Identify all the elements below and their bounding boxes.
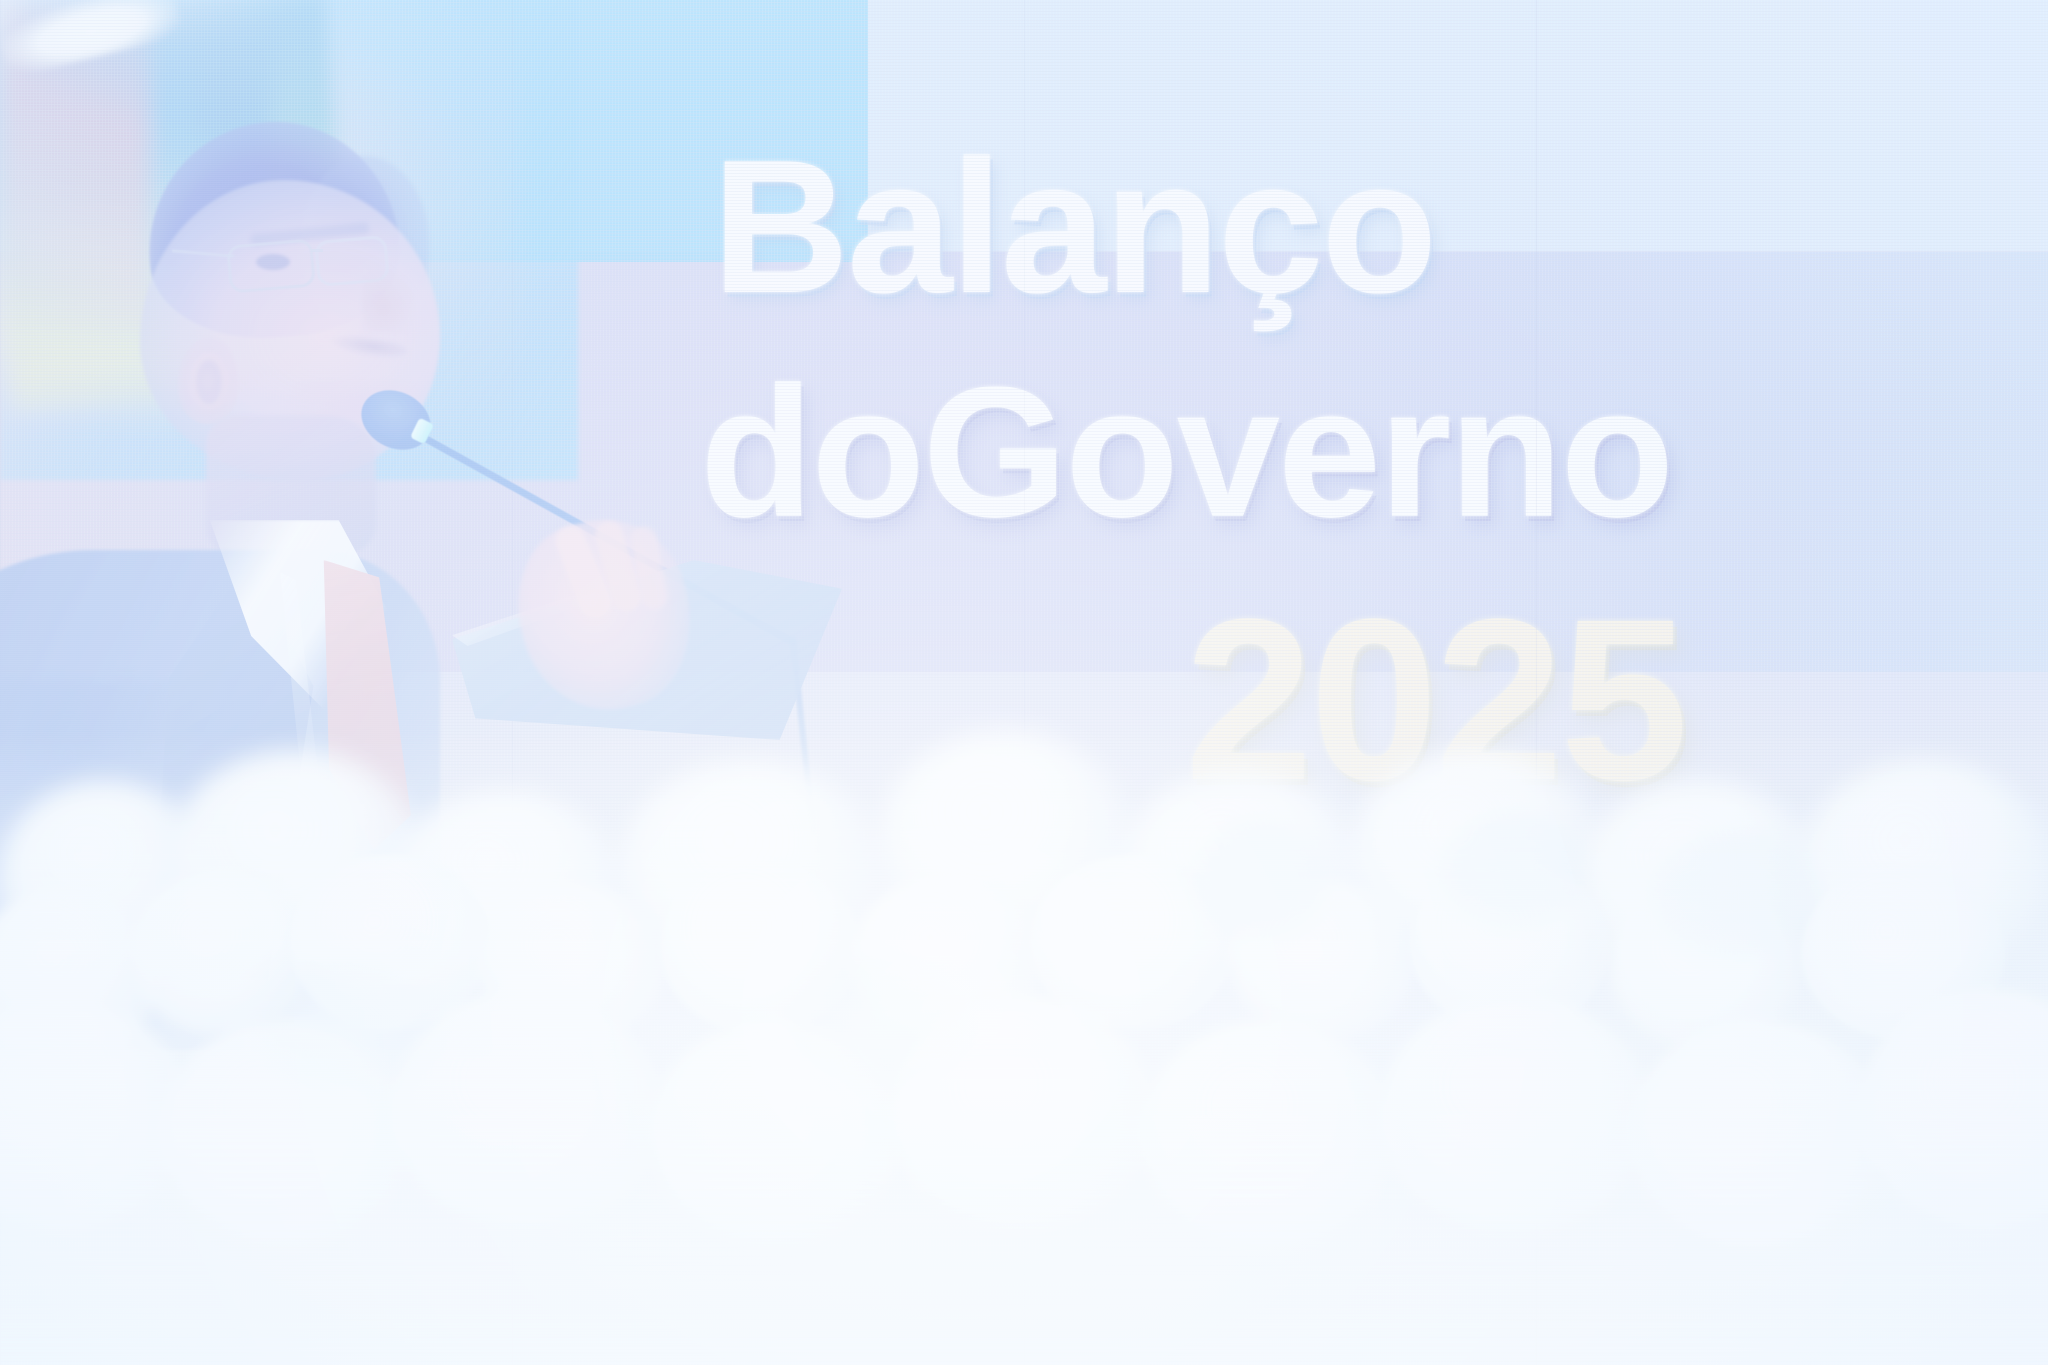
photo-canvas: Balanço doGoverno 2025 <box>0 0 2048 1365</box>
grain-overlay <box>0 0 2048 1365</box>
